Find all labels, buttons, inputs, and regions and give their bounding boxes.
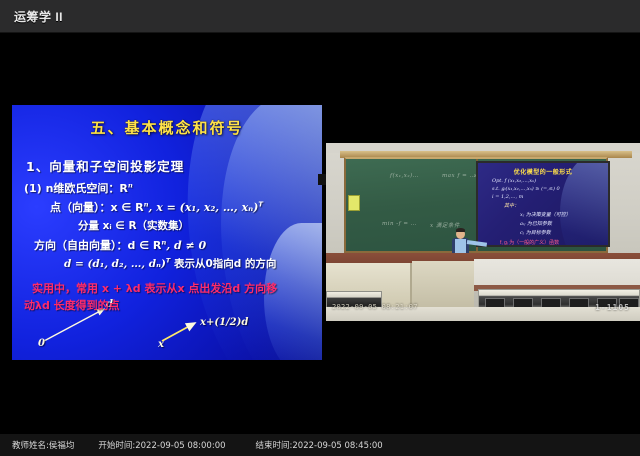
slide-direction-tail: , d ≠ 0 (166, 239, 206, 252)
wall-notice-sign (348, 195, 360, 211)
slide-item-1-superscript: n (128, 181, 133, 189)
teacher-name-label: 教师姓名:侯福均 (12, 439, 74, 451)
projection-screen-item-2: aᵢⱼ 为已知参数 (520, 220, 608, 227)
slide-d-definition-line: d = (d₁, d₂, …, dₙ)T 表示从0指向d 的方向 (64, 256, 314, 271)
lecture-playback-window: 运筹学 II 五、基本概念和符号 1、向量和子空间投影定理 (1) n维欧氏空间… (0, 0, 640, 456)
projection-screen-line-1: Opt. f (x₁,x₂,…,xₙ) (492, 178, 608, 184)
slide-emphasis-line-1: 实用中，常用 x + λd 表示从x 点出发沿d 方向移 (32, 280, 314, 296)
slide-d-definition: d = (d₁, d₂, …, dₙ) (64, 258, 166, 270)
slide-item-1-label: (1) (24, 182, 42, 195)
projection-screen-item-1: xⱼ 为决策变量（可控） (520, 211, 608, 218)
slide-d-definition-tail: 表示从0指向d 的方向 (170, 258, 276, 270)
slide-item-1-text: n维欧氏空间：R (46, 182, 128, 195)
projection-screen-title: 优化模型的一般形式 (478, 167, 608, 176)
slide-direction-text: 方向（自由向量）：d ∈ R (34, 239, 161, 252)
slide-title: 五、基本概念和符号 (20, 117, 314, 138)
slide-heading: 1、向量和子空间投影定理 (26, 156, 314, 175)
slide-component-line: 分量 xᵢ ∈ R（实数集） (78, 218, 314, 233)
projection-screen-line-2: s.t. gᵢ(x₁,x₂,…,xₙ) ≥ (=,≤) 0 (492, 186, 608, 192)
projection-screen-where: 其中： (504, 202, 608, 209)
window-titlebar: 运筹学 II (0, 0, 640, 33)
slide-point-line-tail: , x = (x₁, x₂, …, xₙ) (149, 201, 259, 214)
slide-point-line-transpose: T (258, 200, 263, 208)
slide-point-line: 点（向量）：x ∈ Rn, x = (x₁, x₂, …, xₙ)T (50, 199, 314, 215)
projection-screen-item-3: cⱼ 为目标参数 (520, 229, 608, 236)
chalk-text-4: min -f = … (382, 221, 417, 227)
classroom-video-panel[interactable]: f(x₁,x₂)… max f = … s.t. … min -f = … x … (326, 143, 640, 321)
slide-item-1: (1) n维欧氏空间：Rn (24, 180, 314, 196)
chalk-text-2: max f = … (442, 173, 476, 179)
lecture-info-bar: 教师姓名:侯福均 开始时间:2022-09-05 08:00:00 结束时间:2… (0, 433, 640, 456)
chalk-text-5: x 满足条件 (430, 221, 460, 229)
slide-point-line-text: 点（向量）：x ∈ R (50, 201, 144, 214)
end-time-label: 结束时间:2022-09-05 08:45:00 (256, 439, 383, 451)
video-timestamp-overlay: 2022-09-05 08:21:07 (332, 303, 418, 311)
slide-direction-line: 方向（自由向量）：d ∈ Rn, d ≠ 0 (34, 237, 314, 253)
video-stage: 五、基本概念和符号 1、向量和子空间投影定理 (1) n维欧氏空间：Rn 点（向… (0, 33, 640, 433)
projection-screen-line-3: i = 1,2,…, m (492, 194, 608, 200)
teacher-hair (456, 228, 465, 232)
equipment-cabinet-right (412, 261, 474, 307)
camera-channel-label: 1-1105 (595, 303, 630, 312)
chalk-text-1: f(x₁,x₂)… (390, 173, 419, 179)
start-time-label: 开始时间:2022-09-05 08:00:00 (98, 439, 225, 451)
course-title: 运筹学 II (14, 8, 63, 25)
slide-emphasis-line-2: 动λd 长度得到的点 (24, 297, 314, 313)
slide-panel[interactable]: 五、基本概念和符号 1、向量和子空间投影定理 (1) n维欧氏空间：Rn 点（向… (12, 105, 322, 360)
projection-screen-item-4: f, gᵢ 为（一般的广义）函数 (500, 239, 608, 246)
projection-screen: 优化模型的一般形式 Opt. f (x₁,x₂,…,xₙ) s.t. gᵢ(x₁… (476, 161, 610, 247)
